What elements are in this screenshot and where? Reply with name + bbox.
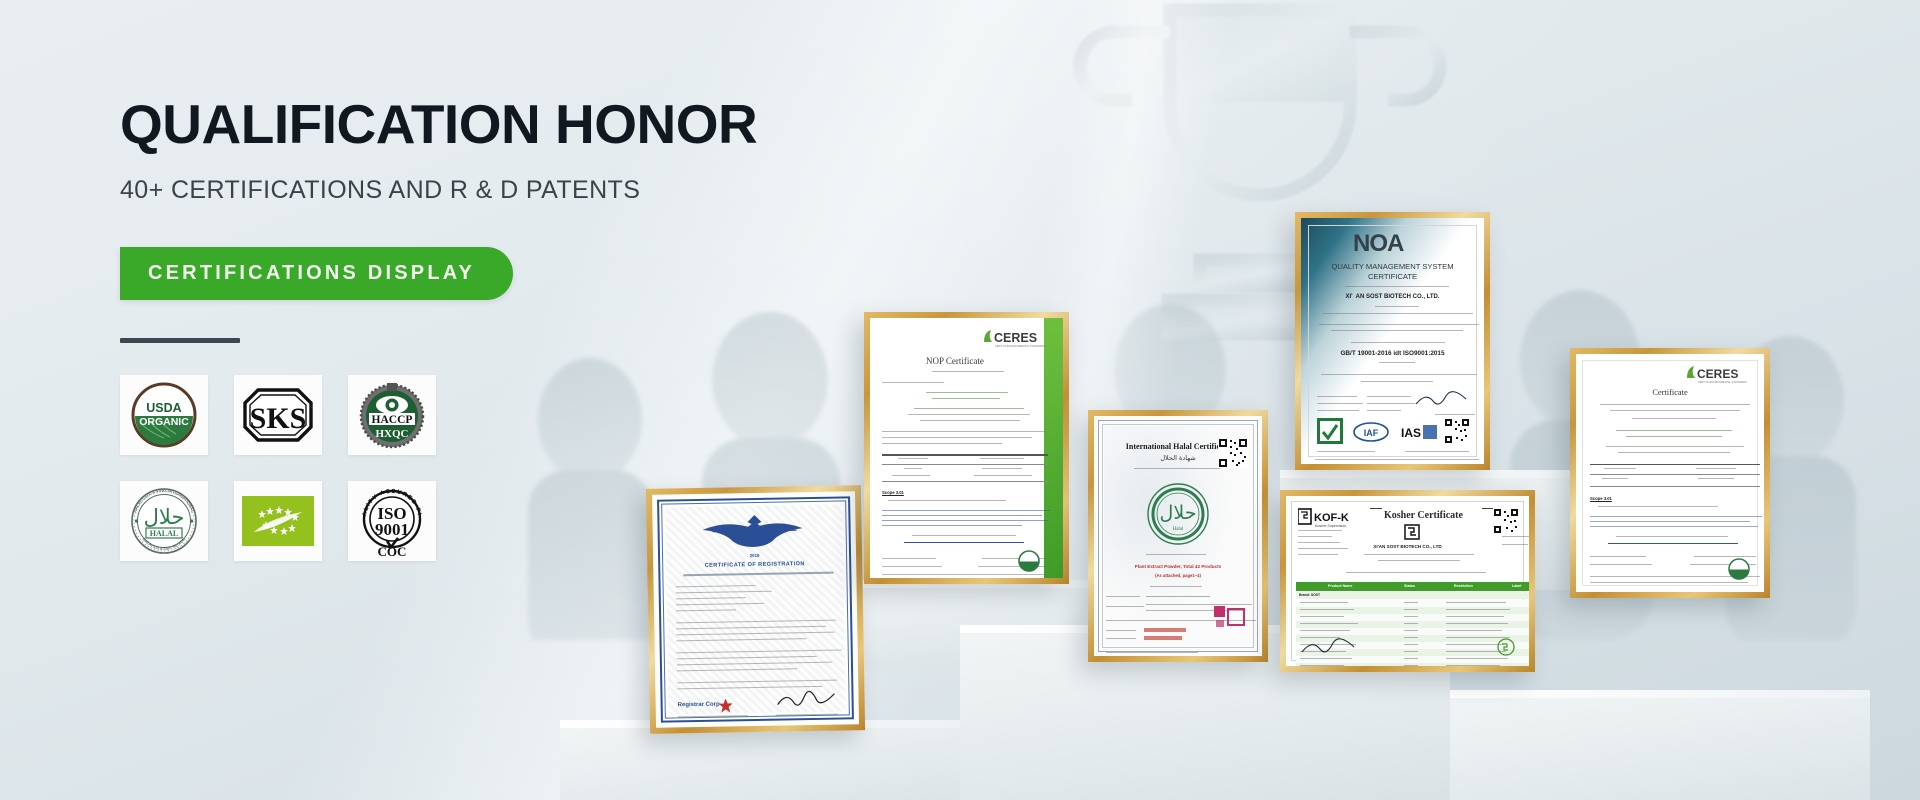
kof-k-mark-icon — [1404, 524, 1420, 540]
svg-text:CERT OF ENVIRONMENTAL STANDARD: CERT OF ENVIRONMENTAL STANDARDS — [995, 344, 1046, 348]
ias-mark-icon: IAS — [1399, 421, 1439, 443]
haccp-icon: HACCP HXQC — [357, 380, 427, 450]
svg-text:IAF: IAF — [1364, 428, 1379, 438]
svg-text:9001: 9001 — [375, 520, 409, 539]
section-divider — [120, 338, 240, 343]
svg-text:ORGANIC: ORGANIC — [139, 416, 189, 428]
iaf-mark-icon: IAF — [1353, 422, 1389, 442]
certificate-noa[interactable]: NOA QUALITY MANAGEMENT SYSTEM CERTIFICAT… — [1295, 212, 1490, 470]
ceres-logo-icon: CERES CERT OF ENVIRONMENTAL STANDARDS — [1682, 364, 1754, 384]
iso-9001-cqc-icon: QUALITY ASSURED FIRM ISO 9001 CQC — [357, 486, 427, 556]
usda-organic-icon: USDA ORGANIC — [129, 380, 199, 450]
kof-k-logo-icon: KOF-K Kosher Supervision — [1298, 508, 1360, 528]
kosher-seal-icon — [1497, 638, 1515, 656]
eu-organic-leaf-icon — [242, 496, 314, 546]
halal-stamp-icon — [1212, 604, 1246, 630]
svg-text:SKS: SKS — [250, 402, 307, 435]
halal-seal-icon: حلال Halal — [1146, 482, 1210, 546]
qr-code-icon — [1444, 418, 1470, 444]
organic-seal-small-icon — [1728, 558, 1750, 580]
logo-haccp[interactable]: HACCP HXQC — [348, 375, 436, 455]
logo-halal[interactable]: HALAL CERTIFYING INTERNATIONAL MALAYSIA … — [120, 481, 208, 561]
logo-eu-organic[interactable] — [234, 481, 322, 561]
certificate-nop-ceres[interactable]: CERES CERT OF ENVIRONMENTAL STANDARDS NO… — [864, 312, 1069, 584]
svg-text:IAS: IAS — [1401, 426, 1421, 440]
green-side-bar — [1044, 318, 1063, 578]
svg-text:حلال: حلال — [144, 505, 185, 529]
sks-icon: SKS — [242, 387, 314, 443]
signature-icon — [1414, 390, 1468, 410]
halal-icon: HALAL CERTIFYING INTERNATIONAL MALAYSIA … — [128, 485, 200, 557]
qr-code-icon — [1218, 438, 1248, 468]
pedestal-right — [1450, 690, 1870, 800]
svg-text:HACCP: HACCP — [372, 414, 413, 426]
svg-text:حلال: حلال — [1160, 502, 1197, 524]
svg-text:CERT OF ENVIRONMENTAL STANDARD: CERT OF ENVIRONMENTAL STANDARDS — [1698, 381, 1747, 384]
signature-icon — [1300, 638, 1356, 658]
svg-text:Halal: Halal — [1173, 527, 1184, 532]
certificate-kosher[interactable]: KOF-K Kosher Supervision Kosher Certific… — [1280, 490, 1535, 672]
signature-icon — [775, 688, 837, 711]
svg-text:Kosher Supervision: Kosher Supervision — [1315, 524, 1346, 528]
certification-logo-grid: USDA ORGANIC SKS — [120, 375, 720, 561]
svg-text:CERES: CERES — [994, 331, 1037, 345]
logo-iso-9001[interactable]: QUALITY ASSURED FIRM ISO 9001 CQC — [348, 481, 436, 561]
svg-text:CERES: CERES — [1697, 367, 1738, 381]
svg-text:HALAL: HALAL — [150, 529, 178, 538]
page-title: QUALIFICATION HONOR — [120, 95, 720, 153]
pedestal-front-left — [560, 720, 960, 800]
certificate-ceres-right[interactable]: CERES CERT OF ENVIRONMENTAL STANDARDS Ce… — [1570, 348, 1770, 598]
page-subtitle: 40+ CERTIFICATIONS AND R & D PATENTS — [120, 176, 720, 205]
logo-sks[interactable]: SKS — [234, 375, 322, 455]
svg-text:CQC: CQC — [378, 544, 407, 556]
qr-code-icon — [1493, 508, 1519, 534]
svg-text:KOF-K: KOF-K — [1314, 512, 1349, 524]
svg-text:USDA: USDA — [146, 401, 181, 415]
logo-usda-organic[interactable]: USDA ORGANIC — [120, 375, 208, 455]
qualification-honor-banner: QUALIFICATION HONOR 40+ CERTIFICATIONS A… — [0, 0, 1920, 800]
certificate-halal[interactable]: International Halal Certificate شهادة ال… — [1088, 410, 1268, 662]
svg-text:HXQC: HXQC — [376, 428, 409, 440]
usda-seal-small-icon — [1018, 550, 1040, 572]
hero-text-block: QUALIFICATION HONOR 40+ CERTIFICATIONS A… — [120, 95, 720, 561]
certifications-display-button[interactable]: CERTIFICATIONS DISPLAY — [120, 247, 513, 300]
ceres-logo-icon: CERES CERT OF ENVIRONMENTAL STANDARDS — [978, 328, 1054, 348]
red-star-icon — [718, 697, 734, 713]
cnas-mark-icon — [1317, 418, 1343, 444]
